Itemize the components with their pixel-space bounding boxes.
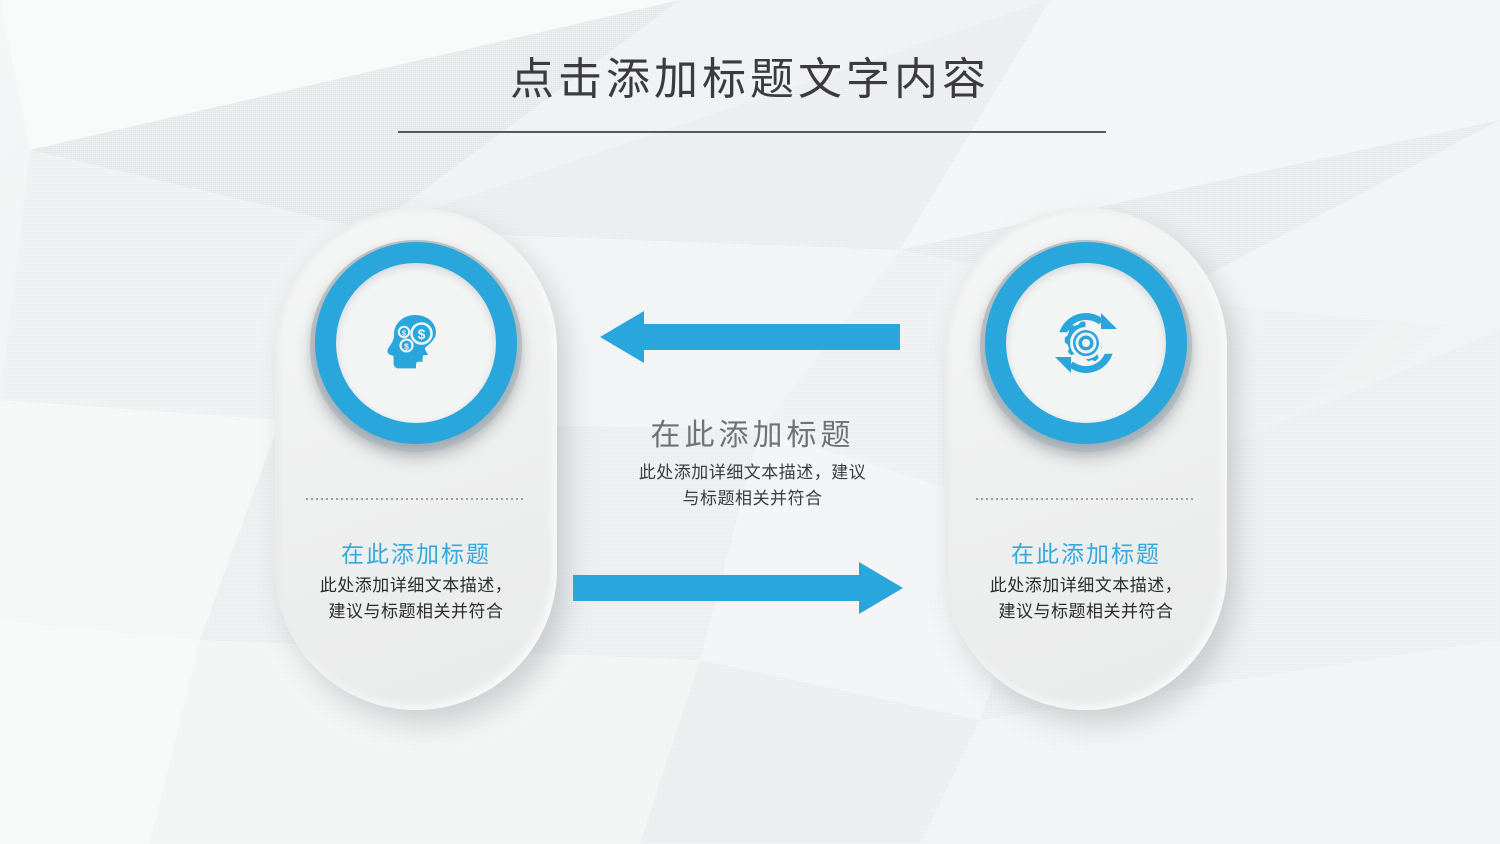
- left-card-description-line2: 建议与标题相关并符合: [275, 599, 557, 625]
- left-card-icon-well: $ $ $: [336, 263, 496, 423]
- right-card-description-line2: 建议与标题相关并符合: [945, 599, 1227, 625]
- arrow-right-icon: [573, 557, 903, 619]
- left-card[interactable]: $ $ $ 在此添加标题 此处添加详细文本描述， 建议与标题相关并符合: [275, 208, 557, 710]
- right-card-heading: 在此添加标题: [945, 540, 1227, 569]
- slide-title-block: 点击添加标题文字内容: [0, 58, 1500, 102]
- center-description-line2: 与标题相关并符合: [565, 486, 940, 512]
- arrow-left-icon: [600, 306, 900, 368]
- center-heading: 在此添加标题: [565, 418, 940, 454]
- center-description-line1: 此处添加详细文本描述，建议: [565, 460, 940, 486]
- center-text-block: 在此添加标题 此处添加详细文本描述，建议 与标题相关并符合: [565, 418, 940, 513]
- left-card-divider: [306, 498, 526, 500]
- right-card-text-block: 在此添加标题 此处添加详细文本描述， 建议与标题相关并符合: [945, 540, 1227, 625]
- svg-text:$: $: [418, 326, 426, 342]
- slide-canvas: 点击添加标题文字内容 $ $ $ 在此: [0, 0, 1500, 844]
- page-title: 点击添加标题文字内容: [0, 58, 1500, 102]
- right-card-icon-ring-shadow: [980, 240, 1192, 452]
- right-card-divider: [976, 498, 1196, 500]
- right-card-icon-well: [1006, 263, 1166, 423]
- left-card-icon-ring-shadow: $ $ $: [310, 240, 522, 452]
- svg-text:$: $: [404, 341, 409, 351]
- left-card-heading: 在此添加标题: [275, 540, 557, 569]
- left-card-text-block: 在此添加标题 此处添加详细文本描述， 建议与标题相关并符合: [275, 540, 557, 625]
- gear-refresh-cycle-icon: [1049, 307, 1123, 379]
- right-card-description-line1: 此处添加详细文本描述，: [945, 573, 1227, 599]
- right-card[interactable]: 在此添加标题 此处添加详细文本描述， 建议与标题相关并符合: [945, 208, 1227, 710]
- head-with-money-coins-icon: $ $ $: [380, 307, 452, 379]
- title-underline-rule: [398, 131, 1106, 133]
- right-card-icon-ring: [985, 242, 1187, 444]
- left-card-description-line1: 此处添加详细文本描述，: [275, 573, 557, 599]
- left-card-icon-ring: $ $ $: [315, 242, 517, 444]
